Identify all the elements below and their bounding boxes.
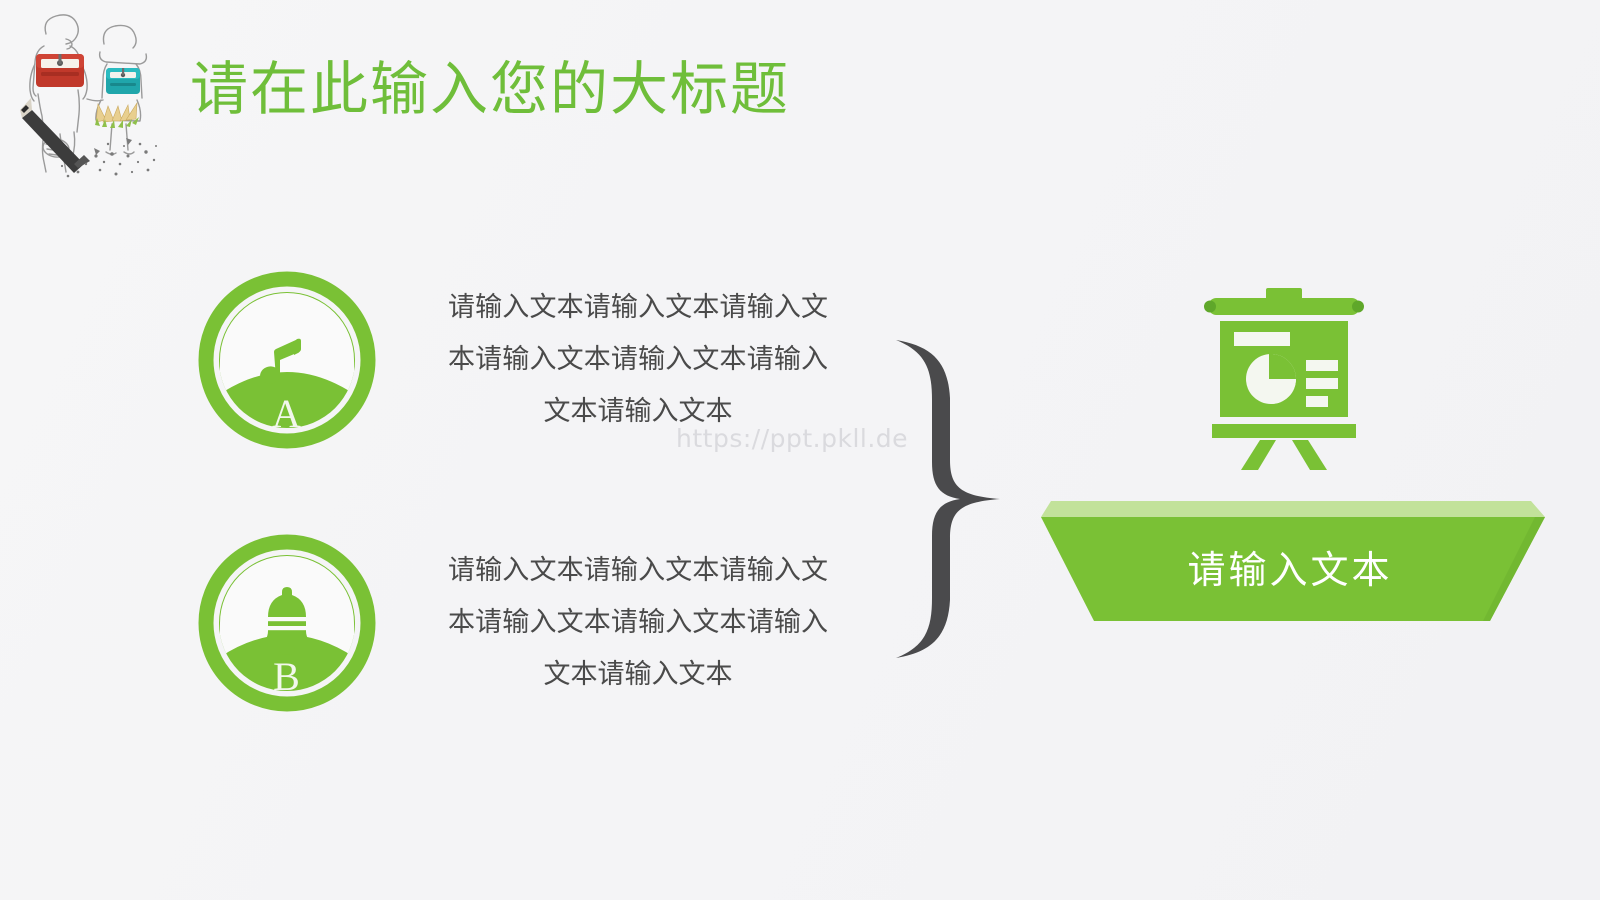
presentation-board-chart-icon <box>1198 288 1370 470</box>
list-item-a[interactable]: A 请输入文本请输入文本请输入文本请输入文本请输入文本请输入文本请输入文本 <box>198 262 828 458</box>
result-banner[interactable]: 请输入文本 <box>1035 487 1545 622</box>
curly-brace-right-icon <box>888 336 1008 662</box>
list-item-b[interactable]: B 请输入文本请输入文本请输入文本请输入文本请输入文本请输入文本请输入文本 <box>198 525 828 721</box>
badge-a[interactable]: A <box>198 262 376 458</box>
children-sketch-illustration <box>8 6 180 186</box>
slide-header: 请在此输入您的大标题 <box>0 0 1600 200</box>
badge-b[interactable]: B <box>198 525 376 721</box>
slide-canvas: 请在此输入您的大标题 <box>0 0 1600 900</box>
item-a-text: 请输入文本请输入文本请输入文本请输入文本请输入文本请输入文本请输入文本 <box>448 282 828 438</box>
item-b-text: 请输入文本请输入文本请输入文本请输入文本请输入文本请输入文本请输入文本 <box>448 545 828 701</box>
page-title: 请在此输入您的大标题 <box>190 58 790 122</box>
